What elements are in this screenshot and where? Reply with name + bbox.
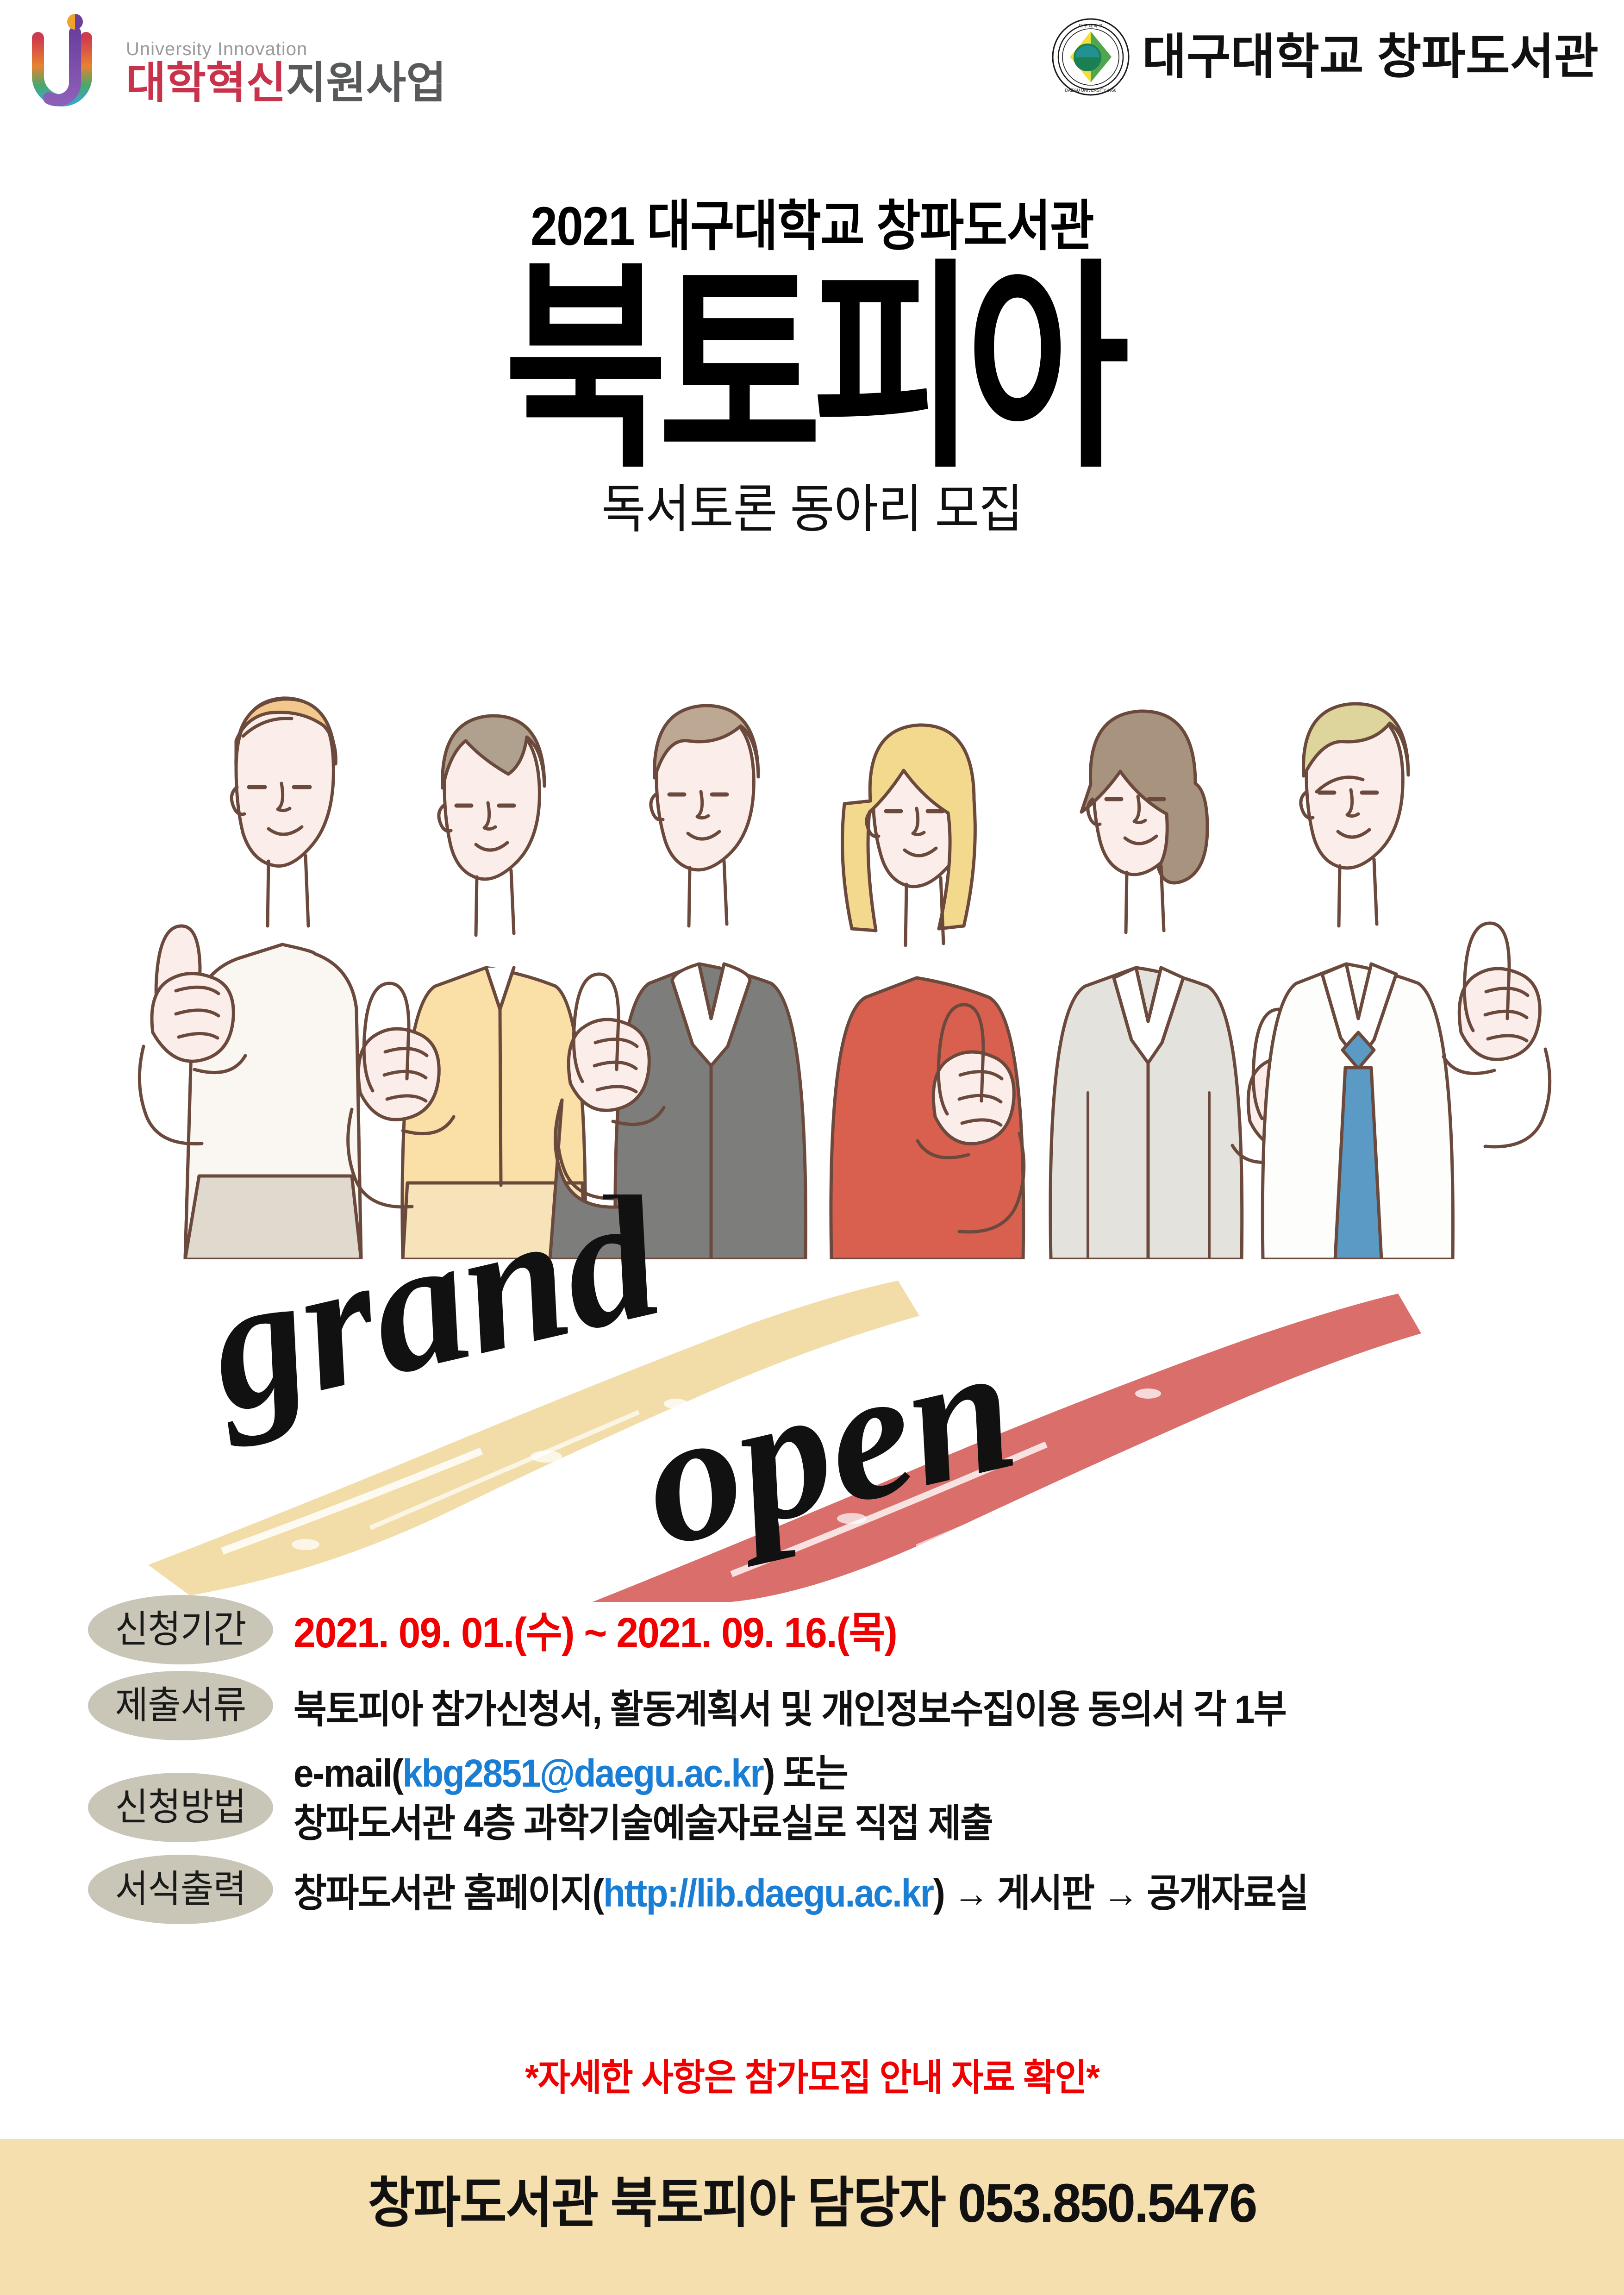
info-label-text: 서식출력 [115, 1870, 246, 1908]
six-people-thumbs-up-illustration [83, 602, 1555, 1259]
info-row-documents: 제출서류 북토피아 참가신청서, 활동계획서 및 개인정보수집이용 동의서 각 … [0, 1671, 1624, 1740]
email-link[interactable]: kbg2851@daegu.ac.kr [403, 1751, 763, 1795]
footer-contact: 창파도서관 북토피아 담당자 053.850.5476 [368, 2176, 1256, 2231]
notice-text: *자세한 사항은 참가모집 안내 자료 확인* [41, 2059, 1584, 2096]
info-value-documents: 북토피아 참가신청서, 활동계획서 및 개인정보수집이용 동의서 각 1부 [294, 1671, 1361, 1735]
library-logo: 대 구 대 학 교 DAEGU UNIVERSITY 1956 대구대학교 창파… [1051, 18, 1599, 96]
svg-text:DAEGU UNIVERSITY 1956: DAEGU UNIVERSITY 1956 [1065, 88, 1117, 93]
info-label-text: 신청기간 [115, 1611, 246, 1649]
homepage-link[interactable]: http://lib.daegu.ac.kr [603, 1871, 933, 1915]
title-subtitle: 독서토론 동아리 모집 [57, 483, 1567, 535]
grand-open-line2: open [625, 1302, 1032, 1586]
info-value-line: 북토피아 참가신청서, 활동계획서 및 개인정보수집이용 동의서 각 1부 [294, 1685, 1286, 1735]
ui-logo-korean: 대학혁신지원사업 [126, 61, 446, 105]
info-value-period: 2021. 09. 01.(수) ~ 2021. 09. 16.(목) [294, 1595, 942, 1661]
info-row-method: 신청방법 e-mail(kbg2851@daegu.ac.kr) 또는 창파도서… [0, 1747, 1624, 1848]
uj-mark-icon [28, 14, 120, 111]
info-row-form-download: 서식출력 창파도서관 홈페이지(http://lib.daegu.ac.kr) … [0, 1855, 1624, 1924]
info-value-line: e-mail(kbg2851@daegu.ac.kr) 또는 [294, 1749, 993, 1799]
info-section: 신청기간 2021. 09. 01.(수) ~ 2021. 09. 16.(목)… [0, 1595, 1624, 1931]
email-prefix: e-mail( [294, 1751, 403, 1795]
poster-header: University Innovation 대학혁신지원사업 대 구 대 학 교… [0, 0, 1624, 130]
page-title: 북토피아 [162, 267, 1462, 471]
info-row-period: 신청기간 2021. 09. 01.(수) ~ 2021. 09. 16.(목) [0, 1595, 1624, 1664]
daegu-university-seal-icon: 대 구 대 학 교 DAEGU UNIVERSITY 1956 [1051, 18, 1130, 96]
svg-text:대 구 대 학 교: 대 구 대 학 교 [1079, 24, 1103, 28]
poster-title-block: 2021 대구대학교 창파도서관 북토피아 독서토론 동아리 모집 [0, 199, 1624, 535]
info-label-text: 제출서류 [115, 1687, 246, 1725]
info-value-line: 2021. 09. 01.(수) ~ 2021. 09. 16.(목) [294, 1606, 897, 1661]
info-label-pill: 신청방법 [88, 1773, 273, 1842]
info-label-pill: 신청기간 [88, 1595, 273, 1664]
ui-logo-tagline: University Innovation [126, 40, 446, 58]
ui-logo-wordmark: University Innovation 대학혁신지원사업 [126, 40, 446, 111]
info-label-pill: 서식출력 [88, 1855, 273, 1924]
info-label-pill: 제출서류 [88, 1671, 273, 1740]
ui-logo-korean-gray: 지원사업 [286, 58, 446, 107]
email-suffix: ) 또는 [763, 1751, 847, 1795]
info-value-method: e-mail(kbg2851@daegu.ac.kr) 또는 창파도서관 4층 … [294, 1747, 1045, 1848]
info-label-text: 신청방법 [115, 1788, 246, 1826]
homepage-path: ) → 게시판 → 공개자료실 [933, 1871, 1308, 1915]
grand-open-graphic: grand open [130, 1194, 1518, 1602]
library-name: 대구대학교 창파도서관 [1142, 33, 1599, 81]
info-value-form-download: 창파도서관 홈페이지(http://lib.daegu.ac.kr) → 게시판… [294, 1855, 1384, 1919]
university-innovation-logo: University Innovation 대학혁신지원사업 [28, 14, 446, 111]
info-value-line: 창파도서관 4층 과학기술예술자료실로 직접 제출 [294, 1799, 993, 1849]
poster-footer: 창파도서관 북토피아 담당자 053.850.5476 [0, 2139, 1624, 2295]
info-value-line: 창파도서관 홈페이지(http://lib.daegu.ac.kr) → 게시판… [294, 1869, 1308, 1919]
ui-logo-korean-red: 대학혁신 [126, 58, 286, 107]
homepage-prefix: 창파도서관 홈페이지( [294, 1871, 603, 1915]
